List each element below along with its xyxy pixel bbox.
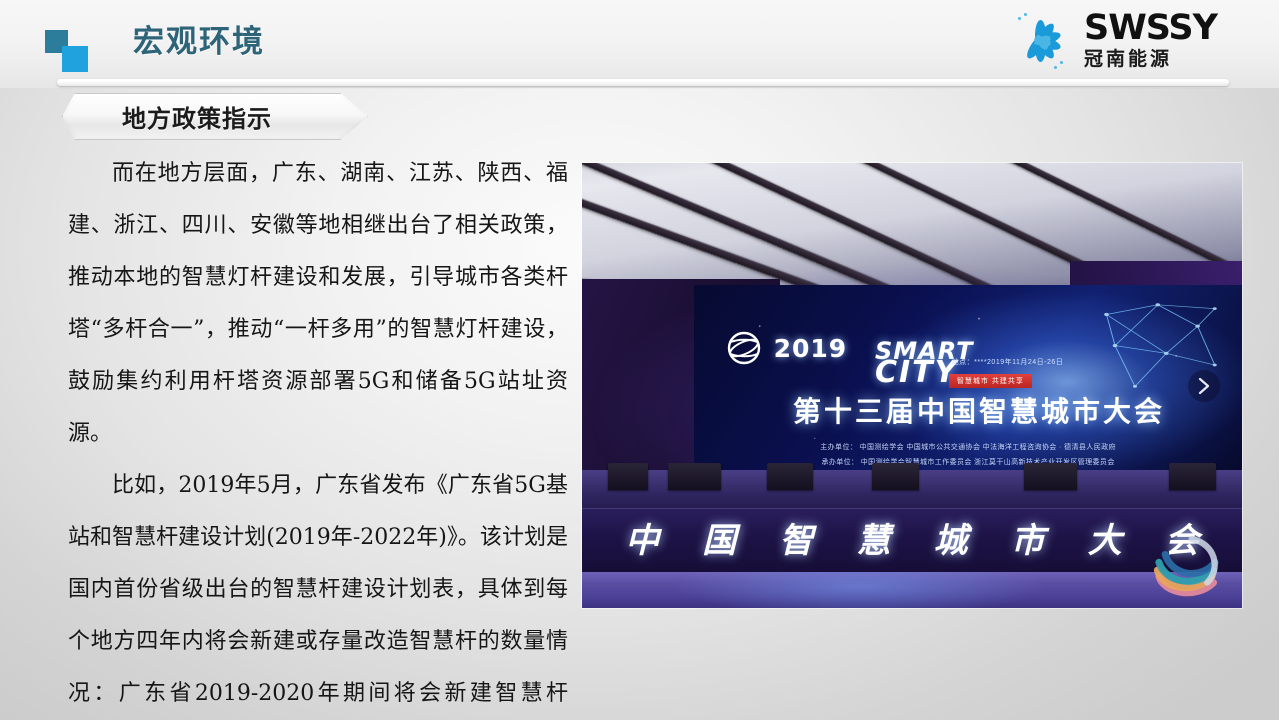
screen-year: 2019 xyxy=(774,334,848,363)
globe-icon xyxy=(724,328,764,368)
stage-led-screen: 2019 SMART CITY 地点：****2019年11月24日-26日 智… xyxy=(694,285,1242,472)
stage-monitor xyxy=(668,463,721,490)
colorful-swirl-ring-logo-icon xyxy=(1148,528,1226,606)
screen-date-text: 地点：****2019年11月24日-26日 xyxy=(952,357,1064,367)
stage-monitor xyxy=(872,463,918,490)
banner-char: 市 xyxy=(1011,524,1045,558)
banner-char: 中 xyxy=(625,524,659,558)
page-title: 宏观环境 xyxy=(133,22,265,62)
stage-monitor xyxy=(608,463,648,490)
chevron-right-icon xyxy=(1197,377,1211,395)
stage-monitor xyxy=(767,463,813,490)
header-divider xyxy=(57,79,1229,86)
banner-char: 大 xyxy=(1088,524,1122,558)
section-badge: 地方政策指示 xyxy=(62,93,368,140)
screen-main-title: 第十三届中国智慧城市大会 xyxy=(760,390,1198,430)
section-badge-label: 地方政策指示 xyxy=(62,93,332,140)
paragraph-2: 比如，2019年5月，广东省发布《广东省5G基站和智慧杆建设计划(2019年-2… xyxy=(68,460,568,720)
stage-floor xyxy=(582,572,1242,608)
stage-front-led-banner: 中 国 智 慧 城 市 大 会 xyxy=(582,508,1242,573)
screen-slogan-ribbon: 智慧城市 共建共享 xyxy=(949,374,1032,388)
brand-name: SWSSY xyxy=(1084,10,1217,46)
city-word: CITY xyxy=(875,362,974,383)
smart-word: SMART xyxy=(875,341,974,362)
screen-smart-city-wordmark: SMART CITY xyxy=(875,341,974,383)
brand-logo: SWSSY 冠南能源 xyxy=(1008,5,1217,77)
paragraph-1: 而在地方层面，广东、湖南、江苏、陕西、福建、浙江、四川、安徽等地相继出台了相关政… xyxy=(68,148,568,460)
photo-next-button[interactable] xyxy=(1188,370,1220,402)
banner-char: 智 xyxy=(779,524,813,558)
banner-char: 国 xyxy=(702,524,736,558)
brand-subtitle: 冠南能源 xyxy=(1084,48,1217,72)
screen-organizers-line: 主办单位： 中国测绘学会 中国城市公共交通协会 中法海洋工程咨询协会 · 德清县… xyxy=(694,442,1242,452)
slide-header: 宏观环境 SWSSY 冠南能源 xyxy=(0,0,1279,88)
conference-photo: 2019 SMART CITY 地点：****2019年11月24日-26日 智… xyxy=(582,163,1242,608)
slide-canvas: 宏观环境 SWSSY 冠南能源 xyxy=(0,0,1279,720)
stage-monitor xyxy=(1169,463,1215,490)
water-droplet-flower-logo-icon xyxy=(1008,8,1074,74)
body-text: 而在地方层面，广东、湖南、江苏、陕西、福建、浙江、四川、安徽等地相继出台了相关政… xyxy=(68,148,568,720)
stage-monitor xyxy=(1024,463,1077,490)
banner-char: 慧 xyxy=(856,524,890,558)
decor-square-light-icon xyxy=(62,46,88,72)
banner-char: 城 xyxy=(934,524,968,558)
